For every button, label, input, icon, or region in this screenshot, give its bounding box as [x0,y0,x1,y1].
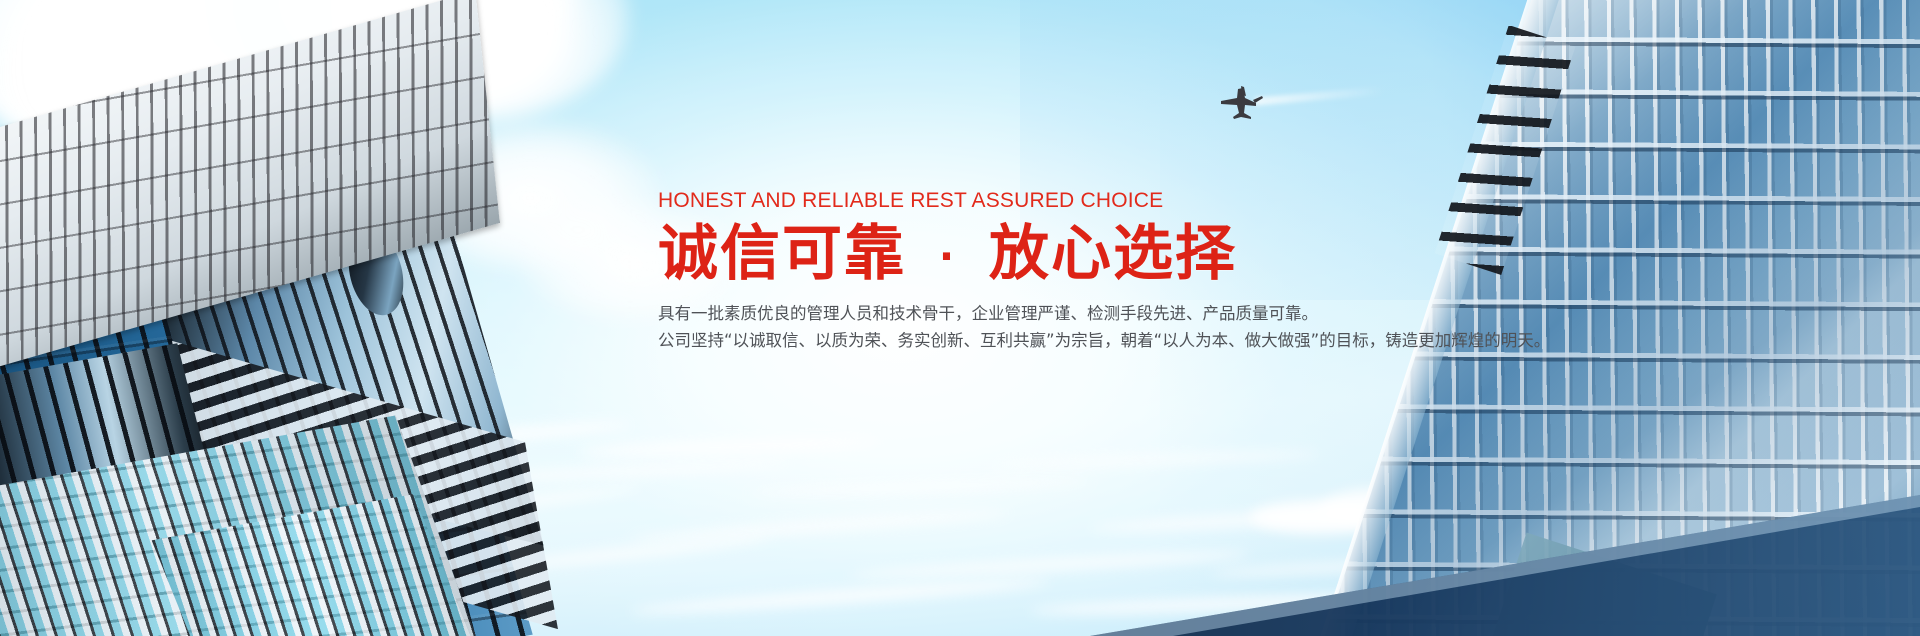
headline-left: 诚信可靠 [658,219,906,289]
page-title: 诚信可靠 · 放心选择 [658,222,1498,287]
banner-body: 具有一批素质优良的管理人员和技术骨干，企业管理严谨、检测手段先进、产品质量可靠。… [658,301,1498,354]
body-line-1: 具有一批素质优良的管理人员和技术骨干，企业管理严谨、检测手段先进、产品质量可靠。 [658,301,1498,328]
headline-right: 放心选择 [989,219,1237,289]
jet-airliner-silhouette [1212,82,1270,122]
banner-eyebrow: HONEST AND RELIABLE REST ASSURED CHOICE [658,188,1498,213]
left-glass-tower [0,60,470,636]
body-line-2: 公司坚持“以诚取信、以质为荣、务实创新、互利共赢”为宗旨，朝着“以人为本、做大做… [658,328,1498,355]
banner-copy: HONEST AND RELIABLE REST ASSURED CHOICE … [658,188,1498,354]
headline-separator: · [929,234,966,280]
hero-banner: HONEST AND RELIABLE REST ASSURED CHOICE … [0,0,1920,636]
